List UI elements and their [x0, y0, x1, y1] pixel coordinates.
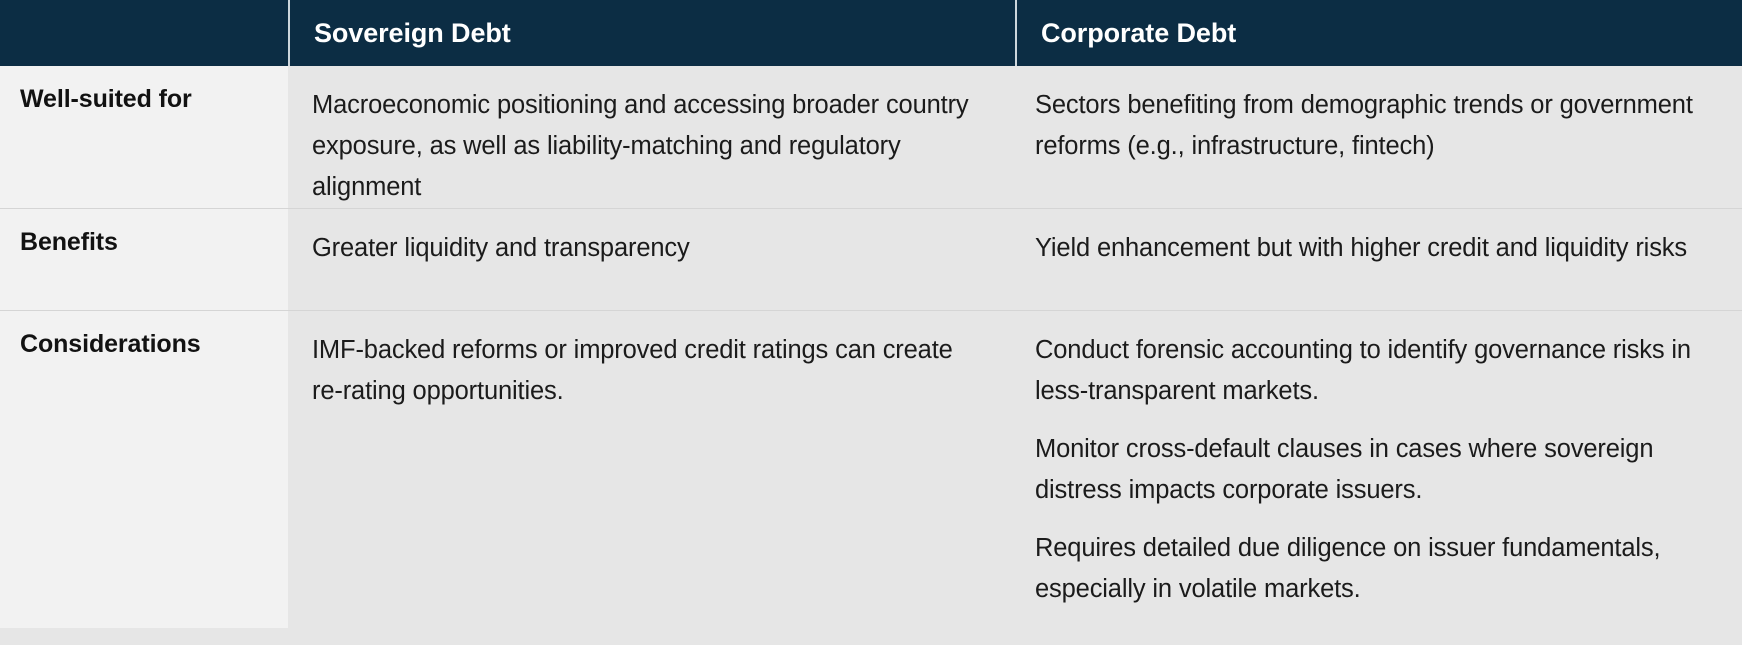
- row-label-considerations: Considerations: [0, 311, 288, 628]
- table-row: Well-suited for Macroeconomic positionin…: [0, 66, 1742, 208]
- row-label-benefits: Benefits: [0, 209, 288, 310]
- table-row: Benefits Greater liquidity and transpare…: [0, 208, 1742, 310]
- cell-sovereign-well-suited-for: Macroeconomic positioning and accessing …: [288, 66, 1011, 208]
- cell-paragraph: Macroeconomic positioning and accessing …: [312, 85, 989, 208]
- cell-paragraph: Sectors benefiting from demographic tren…: [1035, 85, 1712, 167]
- cell-corporate-well-suited-for: Sectors benefiting from demographic tren…: [1011, 66, 1742, 208]
- header-cell-sovereign-debt: Sovereign Debt: [288, 0, 1015, 66]
- cell-paragraph: Monitor cross-default clauses in cases w…: [1035, 429, 1712, 511]
- table-header-row: Sovereign Debt Corporate Debt: [0, 0, 1742, 66]
- table-body: Well-suited for Macroeconomic positionin…: [0, 66, 1742, 628]
- cell-paragraph: Greater liquidity and transparency: [312, 228, 989, 269]
- cell-paragraph: Yield enhancement but with higher credit…: [1035, 228, 1712, 269]
- cell-corporate-considerations: Conduct forensic accounting to identify …: [1011, 311, 1742, 628]
- header-cell-row-label: [0, 0, 288, 66]
- cell-corporate-benefits: Yield enhancement but with higher credit…: [1011, 209, 1742, 310]
- table-row: Considerations IMF-backed reforms or imp…: [0, 310, 1742, 628]
- cell-sovereign-considerations: IMF-backed reforms or improved credit ra…: [288, 311, 1011, 628]
- header-cell-corporate-debt: Corporate Debt: [1015, 0, 1742, 66]
- table-bottom-strip: [0, 628, 1742, 645]
- cell-paragraph: Requires detailed due diligence on issue…: [1035, 528, 1712, 610]
- cell-sovereign-benefits: Greater liquidity and transparency: [288, 209, 1011, 310]
- cell-paragraph: IMF-backed reforms or improved credit ra…: [312, 330, 989, 412]
- comparison-table: Sovereign Debt Corporate Debt Well-suite…: [0, 0, 1742, 645]
- cell-paragraph: Conduct forensic accounting to identify …: [1035, 330, 1712, 412]
- row-label-well-suited-for: Well-suited for: [0, 66, 288, 208]
